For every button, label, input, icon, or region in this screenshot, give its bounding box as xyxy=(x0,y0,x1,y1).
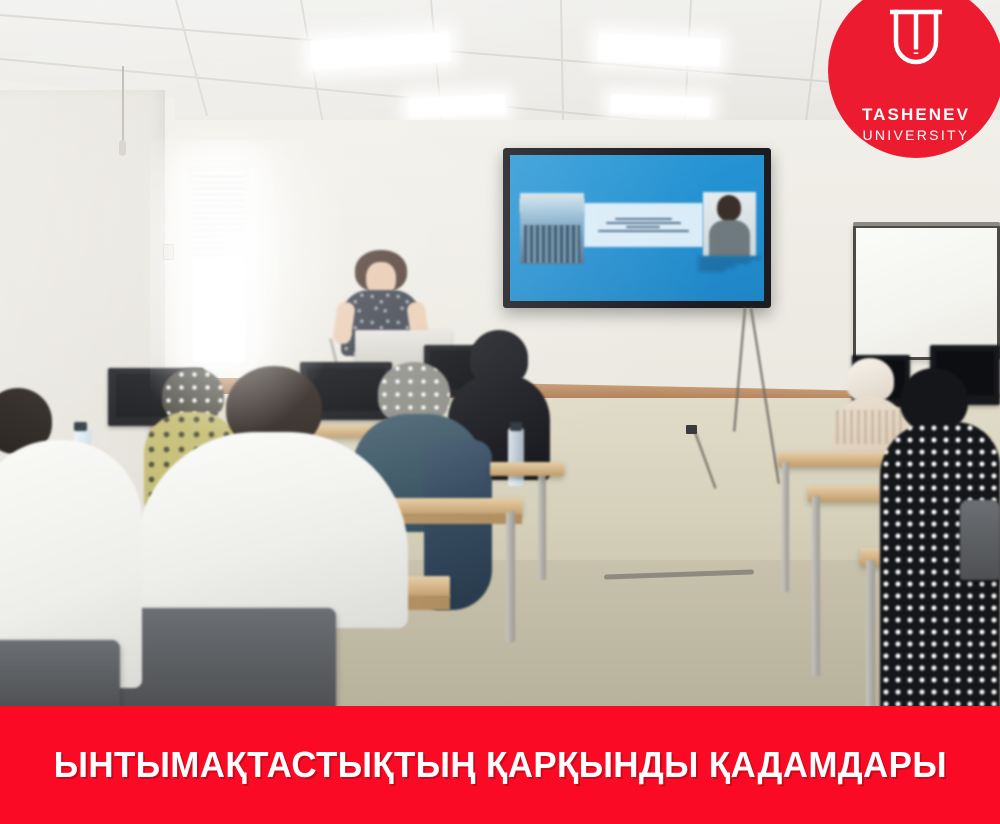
logo-name: TASHENEV xyxy=(862,106,970,123)
light-switch[interactable] xyxy=(163,244,174,260)
chair-right xyxy=(960,500,1000,580)
chair-foreground-left xyxy=(0,640,120,710)
slide-portrait-photo xyxy=(703,192,756,256)
desk-mid-leg-1 xyxy=(506,512,515,642)
slide-building-photo xyxy=(520,199,584,265)
desk-mid-leg-2 xyxy=(538,470,546,580)
hanging-cable xyxy=(122,66,124,144)
slide-caption-lines xyxy=(698,257,762,280)
ceiling-light-2 xyxy=(408,94,507,117)
white-shirt xyxy=(136,432,408,628)
logo-subtitle: UNIVERSITY xyxy=(862,128,969,142)
caption-bar: ЫНТЫМАҚТАСТЫҚТЫҢ ҚАРҚЫНДЫ ҚАДАМДАРЫ xyxy=(0,706,1000,824)
water-bottle-center xyxy=(508,428,524,486)
wall-outlet xyxy=(686,425,697,434)
desk-right-3-leg xyxy=(866,560,875,710)
water-bottle-cap-center xyxy=(510,422,522,431)
wall-mounted-tv xyxy=(503,148,771,308)
window xyxy=(193,172,245,362)
whiteboard-tray xyxy=(853,222,1000,226)
hanging-bulb xyxy=(119,140,126,156)
desk-mid-right xyxy=(490,462,564,476)
whiteboard xyxy=(853,225,1000,360)
tu-monogram-icon xyxy=(880,8,952,68)
tv-screen xyxy=(510,155,764,301)
caption-text: ЫНТЫМАҚТАСТЫҚТЫҢ ҚАРҚЫНДЫ ҚАДАМДАРЫ xyxy=(53,744,946,786)
social-media-photo-card: TASHENEV UNIVERSITY ЫНТЫМАҚТАСТЫҚТЫҢ ҚАР… xyxy=(0,0,1000,824)
desk-right-1-leg xyxy=(782,462,789,592)
slide-title-box xyxy=(584,203,703,247)
desk-right-2-leg xyxy=(812,496,820,676)
person-man-white-shirt-foreground xyxy=(136,366,408,626)
ceiling-light-4 xyxy=(610,94,711,116)
window-blinds xyxy=(193,172,245,259)
